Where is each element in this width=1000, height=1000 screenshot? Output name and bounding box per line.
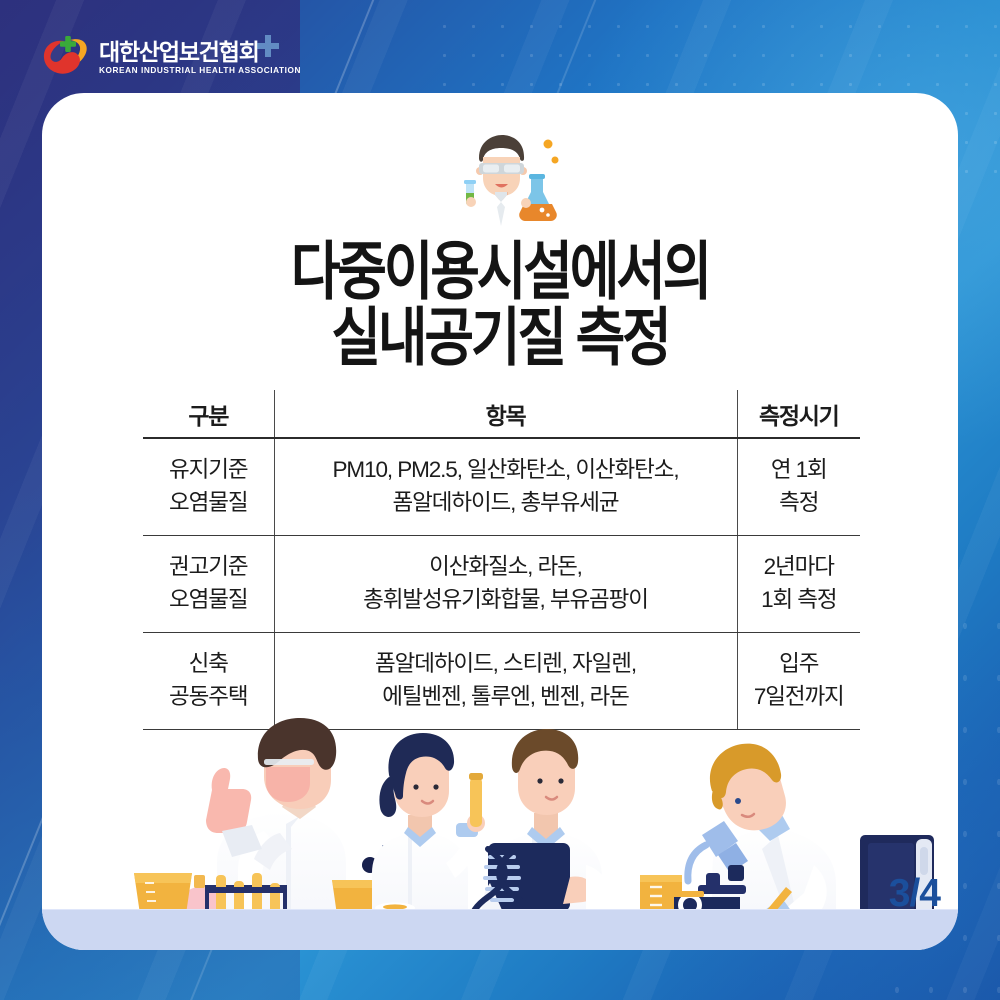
cell-text: 2년마다 (738, 551, 861, 584)
cell-text: 입주 (738, 648, 861, 681)
laboratory-illustration: 3/4 (42, 715, 958, 950)
cell-text: 오염물질 (143, 584, 274, 617)
cell-text: 유지기준 (143, 454, 274, 487)
cell-timing: 2년마다 1회 측정 (737, 535, 860, 632)
cell-text: 이산화질소, 라돈, (275, 551, 737, 584)
cell-division: 유지기준 오염물질 (143, 438, 274, 535)
cell-division: 권고기준 오염물질 (143, 535, 274, 632)
content-card: 다중이용시설에서의 실내공기질 측정 구분 항목 측정시기 유지기준 오염물질 (42, 93, 958, 950)
cell-text: 폼알데하이드, 스티렌, 자일렌, (275, 648, 737, 681)
cell-items: 이산화질소, 라돈, 총휘발성유기화합물, 부유곰팡이 (274, 535, 737, 632)
table-header-row: 구분 항목 측정시기 (143, 390, 860, 438)
title-line-2: 실내공기질 측정 (42, 304, 958, 373)
bench-surface (42, 910, 958, 950)
page-title: 다중이용시설에서의 실내공기질 측정 (42, 238, 958, 363)
cell-text: 폼알데하이드, 총부유세균 (275, 487, 737, 520)
column-header-timing: 측정시기 (737, 390, 860, 438)
page-indicator: 3/4 (889, 872, 940, 916)
table-row: 유지기준 오염물질 PM10, PM2.5, 일산화탄소, 이산화탄소, 폼알데… (143, 438, 860, 535)
cell-items: PM10, PM2.5, 일산화탄소, 이산화탄소, 폼알데하이드, 총부유세균 (274, 438, 737, 535)
cell-text: 총휘발성유기화합물, 부유곰팡이 (275, 584, 737, 617)
logo-title-english: KOREAN INDUSTRIAL HEALTH ASSOCIATION (99, 67, 301, 75)
cell-timing: 연 1회 측정 (737, 438, 860, 535)
table-row: 권고기준 오염물질 이산화질소, 라돈, 총휘발성유기화합물, 부유곰팡이 2년… (143, 535, 860, 632)
health-association-logo-icon (40, 33, 92, 81)
scientist-with-flask-icon (438, 130, 562, 226)
cell-text: PM10, PM2.5, 일산화탄소, 이산화탄소, (275, 454, 737, 487)
cell-text: 7일전까지 (738, 681, 861, 714)
infographic-page: 대한산업보건협회 KOREAN INDUSTRIAL HEALTH ASSOCI… (0, 0, 1000, 1000)
column-header-items: 항목 (274, 390, 737, 438)
plus-icon (255, 33, 281, 59)
cell-text: 측정 (738, 487, 861, 520)
cell-text: 신축 (143, 648, 274, 681)
column-header-division: 구분 (143, 390, 274, 438)
title-line-1: 다중이용시설에서의 (42, 238, 958, 307)
cell-text: 1회 측정 (738, 584, 861, 617)
cell-text: 오염물질 (143, 487, 274, 520)
cell-text: 에틸벤젠, 톨루엔, 벤젠, 라돈 (275, 681, 737, 714)
cell-text: 권고기준 (143, 551, 274, 584)
cell-text: 연 1회 (738, 454, 861, 487)
cell-text: 공동주택 (143, 681, 274, 714)
measurement-table: 구분 항목 측정시기 유지기준 오염물질 PM10, PM2.5, 일산화탄소,… (143, 390, 860, 730)
